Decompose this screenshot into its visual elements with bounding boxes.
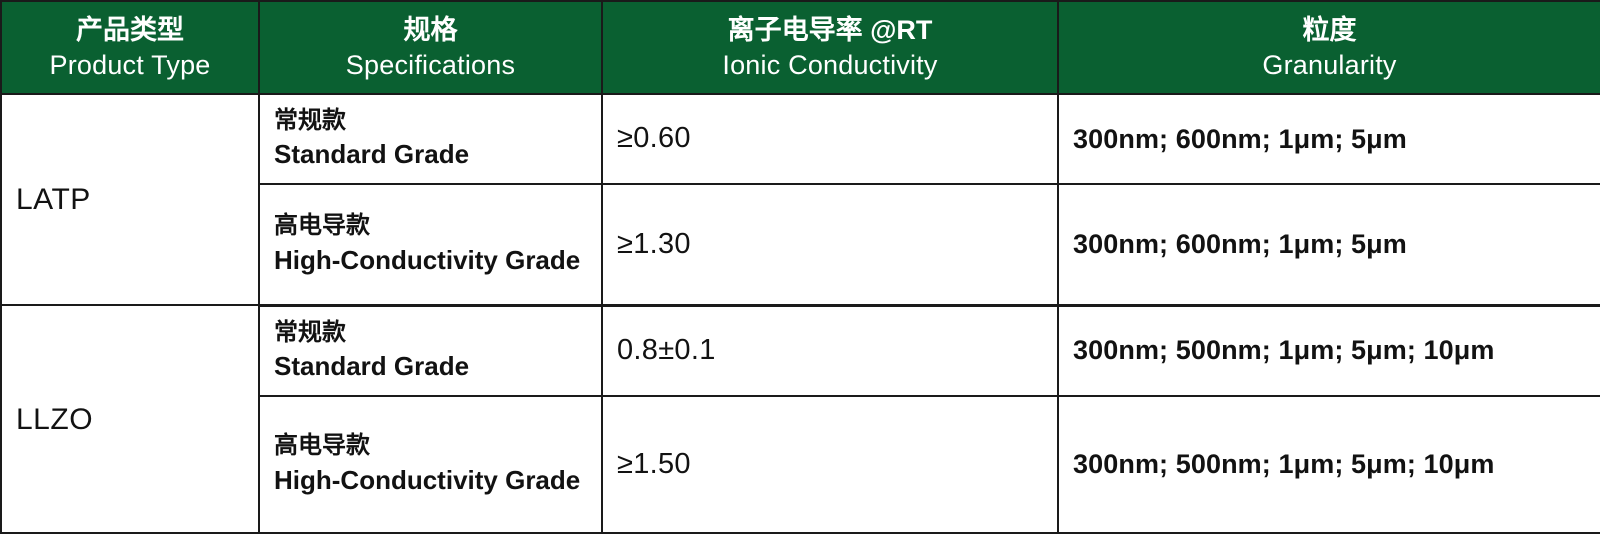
specification-label-en: Standard Grade	[274, 349, 601, 385]
specification-cell: 常规款 Standard Grade	[259, 305, 602, 396]
specification-label-zh: 高电导款	[274, 430, 601, 462]
column-header-product-type-zh: 产品类型	[2, 13, 258, 48]
specification-label-zh: 高电导款	[274, 210, 601, 242]
table-body: LATP 常规款 Standard Grade ≥0.60 300nm; 600…	[1, 94, 1600, 533]
specification-cell: 常规款 Standard Grade	[259, 94, 602, 184]
granularity-cell: 300nm; 500nm; 1μm; 5μm; 10μm	[1058, 305, 1600, 396]
specification-label-en: High-Conductivity Grade	[274, 463, 601, 499]
ionic-conductivity-cell: 0.8±0.1	[602, 305, 1058, 396]
table-row: LLZO 常规款 Standard Grade 0.8±0.1 300nm; 5…	[1, 305, 1600, 396]
specification-label-en: Standard Grade	[274, 137, 601, 173]
column-header-ionic-conductivity-zh: 离子电导率 @RT	[603, 13, 1057, 48]
header-row: 产品类型 Product Type 规格 Specifications 离子电导…	[1, 1, 1600, 94]
column-header-granularity-zh: 粒度	[1059, 13, 1600, 48]
ionic-conductivity-cell: ≥1.30	[602, 184, 1058, 305]
specification-label-en: High-Conductivity Grade	[274, 243, 601, 279]
specification-label-zh: 常规款	[274, 317, 601, 349]
product-type-cell-llzo: LLZO	[1, 305, 259, 533]
column-header-granularity-en: Granularity	[1059, 48, 1600, 83]
granularity-cell: 300nm; 500nm; 1μm; 5μm; 10μm	[1058, 396, 1600, 533]
column-header-product-type-en: Product Type	[2, 48, 258, 83]
ionic-conductivity-cell: ≥0.60	[602, 94, 1058, 184]
column-header-product-type: 产品类型 Product Type	[1, 1, 259, 94]
column-header-ionic-conductivity: 离子电导率 @RT Ionic Conductivity	[602, 1, 1058, 94]
product-type-cell-latp: LATP	[1, 94, 259, 305]
column-header-specifications: 规格 Specifications	[259, 1, 602, 94]
column-header-specifications-en: Specifications	[260, 48, 601, 83]
specification-cell: 高电导款 High-Conductivity Grade	[259, 184, 602, 305]
granularity-cell: 300nm; 600nm; 1μm; 5μm	[1058, 94, 1600, 184]
granularity-cell: 300nm; 600nm; 1μm; 5μm	[1058, 184, 1600, 305]
table-row: LATP 常规款 Standard Grade ≥0.60 300nm; 600…	[1, 94, 1600, 184]
column-header-specifications-zh: 规格	[260, 13, 601, 48]
ionic-conductivity-cell: ≥1.50	[602, 396, 1058, 533]
specification-label-zh: 常规款	[274, 105, 601, 137]
specification-cell: 高电导款 High-Conductivity Grade	[259, 396, 602, 533]
table-header: 产品类型 Product Type 规格 Specifications 离子电导…	[1, 1, 1600, 94]
product-specifications-table: 产品类型 Product Type 规格 Specifications 离子电导…	[0, 0, 1600, 534]
column-header-granularity: 粒度 Granularity	[1058, 1, 1600, 94]
column-header-ionic-conductivity-en: Ionic Conductivity	[603, 48, 1057, 83]
